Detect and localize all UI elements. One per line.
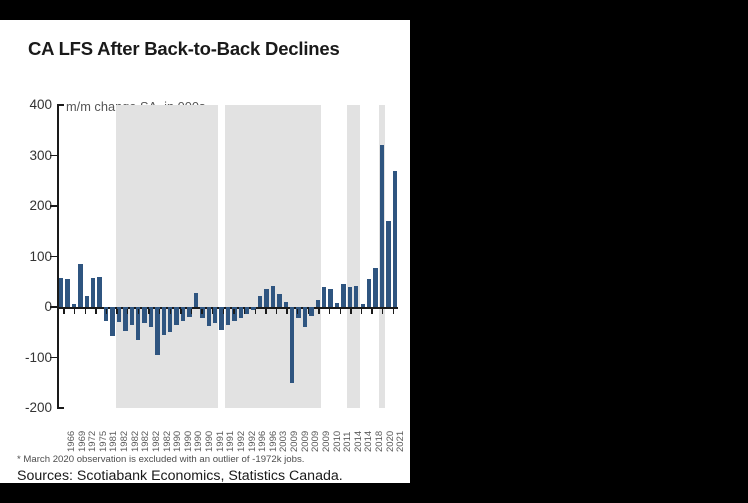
x-axis-tick-label: 1982 <box>141 431 151 452</box>
x-axis-tick <box>138 309 139 314</box>
y-axis-tick <box>57 407 64 409</box>
bar <box>328 289 332 307</box>
x-axis-tick <box>180 309 181 314</box>
x-axis-tick <box>159 309 160 314</box>
chart-sources: Sources: Scotiabank Economics, Statistic… <box>17 468 402 484</box>
x-axis-tick-label: 1982 <box>120 431 130 452</box>
x-axis-tick-label: 1972 <box>88 431 98 452</box>
bar <box>373 268 377 307</box>
x-axis-tick-label: 1982 <box>152 431 162 452</box>
x-axis-tick <box>148 309 149 314</box>
x-axis-tick <box>276 309 277 314</box>
x-axis-tick <box>265 309 266 314</box>
bar <box>65 279 69 307</box>
y-axis-tick-label: -200 <box>4 401 52 415</box>
bar <box>277 294 281 307</box>
x-axis-tick-label: 2009 <box>322 431 332 452</box>
bar <box>271 286 275 307</box>
chart-card: CA LFS After Back-to-Back Declines m/m c… <box>0 20 410 483</box>
recession-band-2 <box>225 105 321 408</box>
x-axis-tick <box>95 309 96 314</box>
x-axis-tick <box>106 309 107 314</box>
x-axis-tick <box>212 309 213 314</box>
x-axis-tick-label: 1981 <box>109 431 119 452</box>
x-axis-tick-label: 1982 <box>163 431 173 452</box>
recession-band-1 <box>116 105 219 408</box>
bar <box>174 307 178 325</box>
bar <box>162 307 166 335</box>
bar <box>316 300 320 307</box>
x-axis-tick-label: 2014 <box>354 431 364 452</box>
bar <box>110 307 114 336</box>
y-axis-tick-label: 400 <box>4 98 52 112</box>
y-axis-labels: 4003002001000-100-200 <box>0 20 52 503</box>
x-axis-tick <box>308 309 309 314</box>
y-axis-tick-label: 0 <box>4 300 52 314</box>
x-axis-tick-label: 2009 <box>311 431 321 452</box>
bar <box>290 307 294 383</box>
y-axis-tick <box>50 357 58 359</box>
bar <box>348 287 352 307</box>
y-axis-tick <box>50 256 58 258</box>
bar <box>72 304 76 307</box>
y-axis-tick-label: 200 <box>4 199 52 213</box>
bar <box>303 307 307 327</box>
recession-band-3 <box>347 105 360 408</box>
x-axis-tick-label: 2021 <box>396 431 406 452</box>
x-axis-tick <box>255 309 256 314</box>
x-axis-tick <box>116 309 117 314</box>
bar <box>130 307 134 325</box>
x-axis-tick <box>191 309 192 314</box>
x-axis-tick <box>170 309 171 314</box>
x-axis-tick <box>361 309 362 314</box>
x-axis-tick <box>393 309 394 314</box>
x-axis-tick-label: 2011 <box>343 432 353 452</box>
bar <box>341 284 345 307</box>
y-axis-tick-label: 300 <box>4 149 52 163</box>
bar <box>194 293 198 307</box>
x-axis-tick-label: 2003 <box>279 431 289 452</box>
x-axis-tick <box>74 309 75 314</box>
x-axis-tick-label: 1982 <box>131 431 141 452</box>
x-axis-tick-label: 1992 <box>248 431 258 452</box>
bar <box>97 277 101 307</box>
x-axis-tick <box>297 309 298 314</box>
x-axis-tick-label: 1992 <box>237 431 247 452</box>
bar <box>226 307 230 325</box>
x-axis-tick <box>340 309 341 314</box>
x-axis-tick-label: 2018 <box>375 431 385 452</box>
x-axis-tick-label: 1966 <box>67 431 77 452</box>
bar <box>386 221 390 307</box>
x-axis-tick <box>127 309 128 314</box>
screenshot-frame: CA LFS After Back-to-Back Declines m/m c… <box>0 0 748 483</box>
x-axis-tick <box>318 309 319 314</box>
x-axis-tick-label: 1969 <box>78 431 88 452</box>
bar <box>155 307 159 355</box>
x-axis-tick <box>233 309 234 314</box>
x-axis-tick-label: 1996 <box>258 431 268 452</box>
x-axis-tick-label: 1996 <box>269 431 279 452</box>
x-axis-tick <box>201 309 202 314</box>
bar <box>309 307 313 316</box>
bar <box>354 286 358 307</box>
bar <box>207 307 211 326</box>
bar <box>335 303 339 307</box>
plot-area <box>58 105 398 408</box>
bar <box>264 289 268 307</box>
bar <box>142 307 146 323</box>
bar <box>239 307 243 318</box>
y-axis-tick-label: -100 <box>4 351 52 365</box>
bar <box>85 296 89 307</box>
bar <box>78 264 82 307</box>
x-axis-tick-label: 1990 <box>184 431 194 452</box>
y-axis-tick <box>50 155 58 157</box>
bar <box>380 145 384 307</box>
x-axis-tick <box>382 309 383 314</box>
bar <box>322 287 326 307</box>
x-axis-tick <box>371 309 372 314</box>
bar <box>367 279 371 307</box>
x-axis-tick-label: 1991 <box>216 431 226 452</box>
bar <box>59 278 63 307</box>
bar <box>213 307 217 323</box>
x-axis-tick <box>63 309 64 314</box>
x-axis-tick <box>286 309 287 314</box>
x-axis-tick-label: 1991 <box>226 431 236 452</box>
bar <box>284 302 288 307</box>
x-axis-tick-label: 1990 <box>194 431 204 452</box>
y-axis-tick <box>57 104 64 106</box>
y-axis-tick <box>50 306 58 308</box>
x-axis-tick <box>329 309 330 314</box>
bar <box>393 171 397 307</box>
bar <box>258 296 262 307</box>
y-axis-tick-label: 100 <box>4 250 52 264</box>
y-axis-tick <box>50 205 58 207</box>
x-axis-tick-label: 1990 <box>173 431 183 452</box>
x-axis-tick <box>350 309 351 314</box>
x-axis-tick-label: 2014 <box>364 431 374 452</box>
x-axis-tick-label: 2010 <box>333 431 343 452</box>
bar <box>91 278 95 307</box>
x-axis-tick <box>223 309 224 314</box>
x-axis-tick-label: 2020 <box>386 431 396 452</box>
x-axis-tick-label: 1990 <box>205 431 215 452</box>
chart-footnote: * March 2020 observation is excluded wit… <box>17 454 397 465</box>
x-axis-tick <box>244 309 245 314</box>
x-axis-tick-label: 2009 <box>290 431 300 452</box>
chart-title: CA LFS After Back-to-Back Declines <box>28 38 398 60</box>
bar <box>361 304 365 307</box>
x-axis-tick <box>85 309 86 314</box>
bar <box>245 307 249 314</box>
x-axis-tick-label: 1975 <box>99 431 109 452</box>
x-axis-tick-label: 2009 <box>301 431 311 452</box>
